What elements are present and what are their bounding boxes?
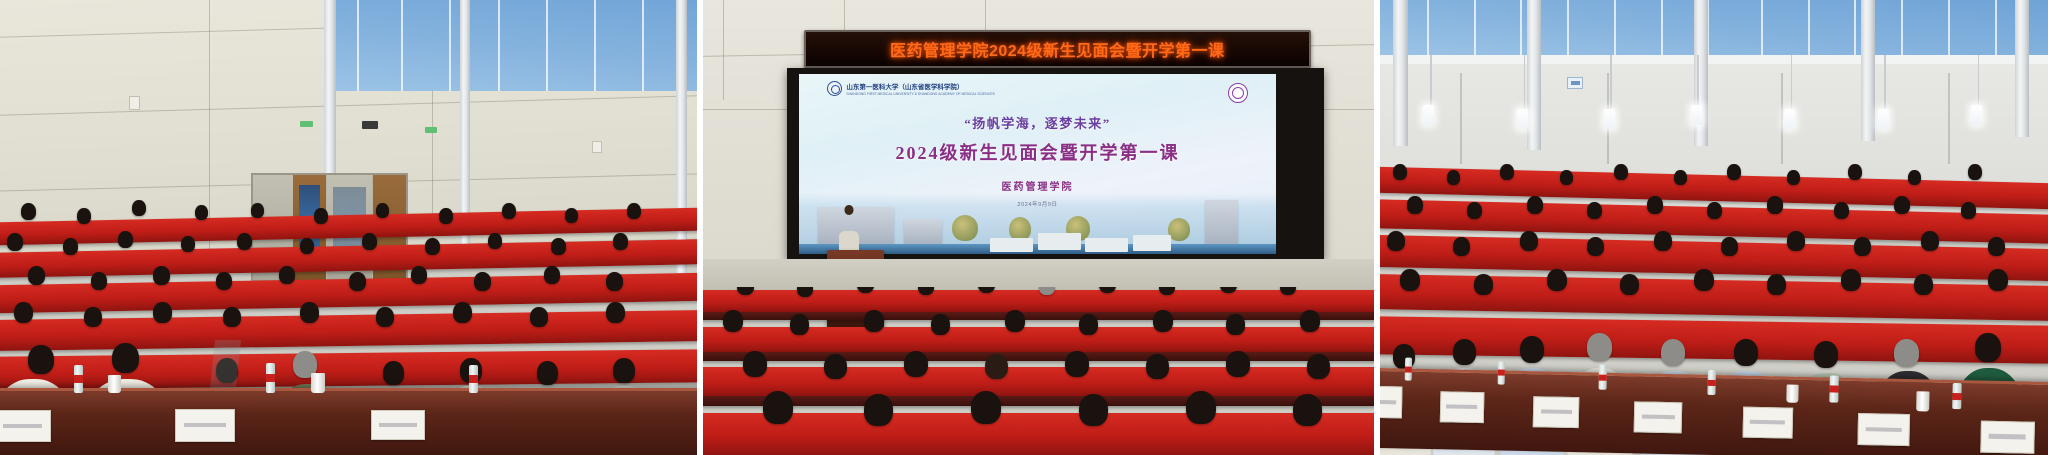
audience-seating-center: [703, 287, 1374, 455]
head-table-left: [0, 388, 697, 455]
led-banner: 医药管理学院2024级新生见面会暨开学第一课: [804, 30, 1311, 68]
slide-title: 2024级新生见面会暨开学第一课: [799, 139, 1277, 165]
name-placard: [1742, 406, 1793, 438]
name-placard: [0, 410, 51, 441]
water-bottle: [1830, 375, 1840, 401]
exit-sign: [300, 121, 313, 127]
left-photo: [0, 0, 697, 455]
pendant-light: [1517, 109, 1528, 129]
exit-sign: [425, 127, 437, 133]
pendant-light: [1971, 105, 1982, 125]
water-bottle: [1707, 370, 1716, 395]
led-banner-text: 医药管理学院2024级新生见面会暨开学第一课: [890, 37, 1225, 61]
college-emblem-icon: [1228, 83, 1248, 103]
wall-column: [2015, 0, 2029, 137]
wall-column: [1861, 0, 1875, 141]
name-placard: [1634, 401, 1683, 433]
slide-university-subtitle: SHANDONG FIRST MEDICAL UNIVERSITY & SHAN…: [846, 92, 994, 96]
tea-cup: [108, 375, 121, 393]
right-photo: [1380, 0, 2048, 455]
tea-cup: [1916, 391, 1929, 411]
water-bottle: [469, 365, 478, 393]
wall-sensor-box: [592, 141, 602, 153]
center-photo: 医药管理学院2024级新生见面会暨开学第一课 山东第一医科大学（山东省医学科学院…: [703, 0, 1374, 455]
center-scene: 医药管理学院2024级新生见面会暨开学第一课 山东第一医科大学（山东省医学科学院…: [703, 0, 1374, 455]
pendant-light: [1604, 109, 1615, 129]
slide-campus-photo: [799, 193, 1277, 254]
right-scene: [1380, 0, 2048, 455]
slide-organizer: 医药管理学院: [799, 178, 1277, 193]
projection-screen: 山东第一医科大学（山东省医学科学院） SHANDONG FIRST MEDICA…: [799, 74, 1277, 254]
slide-quote: “扬帆学海，逐梦未来”: [799, 113, 1277, 132]
wall-speaker: [362, 121, 378, 129]
water-bottle: [1952, 383, 1962, 409]
photo-triptych: 医药管理学院2024级新生见面会暨开学第一课 山东第一医科大学（山东省医学科学院…: [0, 0, 2048, 455]
wall-column: [1527, 0, 1541, 150]
projection-screen-frame: 山东第一医科大学（山东省医学科学院） SHANDONG FIRST MEDICA…: [787, 68, 1324, 259]
water-bottle: [1404, 357, 1411, 380]
wall-column: [1393, 0, 1408, 146]
clerestory-window: [1380, 0, 2048, 55]
pendant-light: [1784, 109, 1795, 129]
water-bottle: [1599, 364, 1608, 389]
name-placard: [1858, 413, 1911, 445]
room-sign: [1567, 77, 1583, 89]
name-placard: [371, 410, 425, 440]
name-placard: [1380, 386, 1403, 418]
water-bottle: [74, 365, 83, 393]
pendant-light: [1691, 105, 1702, 125]
tea-cup: [311, 373, 325, 392]
water-bottle: [266, 363, 275, 392]
water-bottle: [1498, 361, 1505, 384]
slide-university-name: 山东第一医科大学（山东省医学科学院）: [846, 81, 994, 91]
tea-cup: [1786, 384, 1798, 403]
clerestory-window: [328, 0, 697, 91]
wall-sensor-box: [129, 96, 140, 110]
name-placard: [1440, 390, 1485, 422]
slide-university-logo: 山东第一医科大学（山东省医学科学院） SHANDONG FIRST MEDICA…: [827, 81, 994, 96]
name-placard: [1980, 420, 2035, 453]
name-placard: [1533, 396, 1580, 428]
pendant-light: [1423, 105, 1434, 125]
university-crest-icon: [827, 81, 842, 96]
pendant-light: [1878, 109, 1889, 129]
head-table-right: [1380, 367, 2048, 455]
name-placard: [175, 409, 235, 442]
left-scene: [0, 0, 697, 455]
